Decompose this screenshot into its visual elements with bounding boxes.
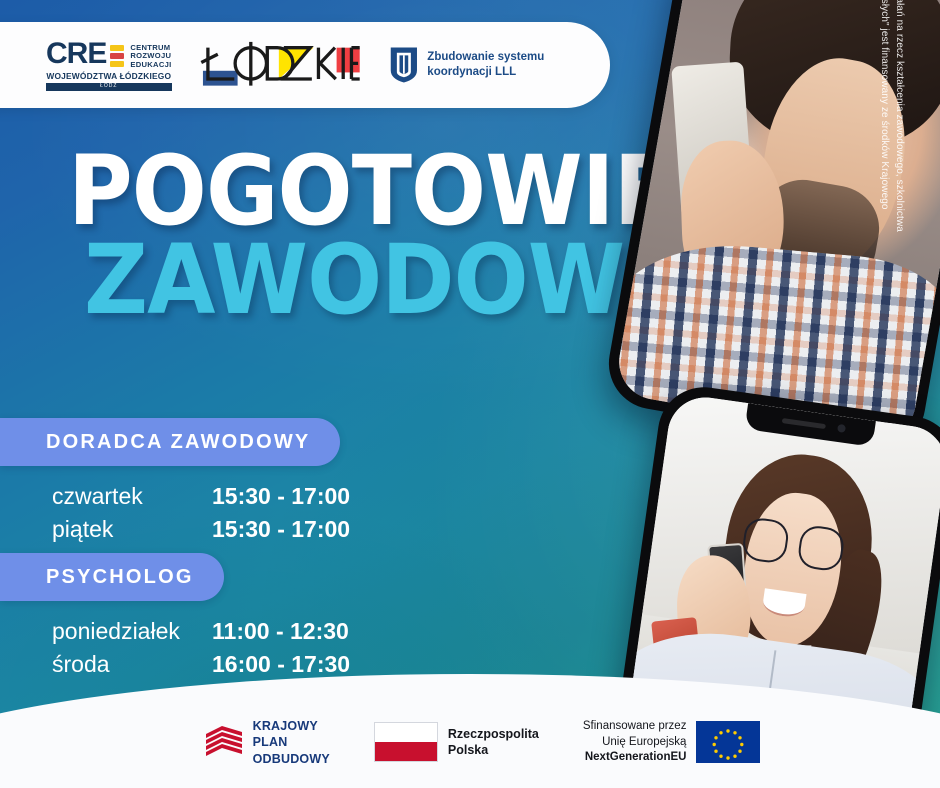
page-title: POGOTOWIE ZAWODOWE <box>68 150 588 321</box>
page-title-line-2: ZAWODOWE <box>84 239 548 322</box>
cre-logo: CRE CENTRUM ROZWOJU EDUKACJI WOJEWÓDZTWA… <box>46 39 172 90</box>
cre-logo-bars-icon <box>110 45 124 67</box>
zbudowanie-logo-text: Zbudowanie systemu koordynacji LLL <box>427 50 610 79</box>
hours-time: 15:30 - 17:00 <box>212 513 350 546</box>
phone-in-circle-icon <box>262 565 287 590</box>
service-label-doradca: DORADCA ZAWODOWY <box>0 418 340 466</box>
cre-logo-top: CRE CENTRUM ROZWOJU EDUKACJI <box>46 39 172 69</box>
lodzkie-logo-mark <box>198 39 363 91</box>
eu-line-3: NextGenerationEU <box>583 750 687 766</box>
poland-flag-icon <box>374 722 438 762</box>
eu-logo: Sfinansowane przez Unię Europejską NextG… <box>583 719 761 766</box>
cre-logo-line-2: ROZWOJU <box>130 52 171 60</box>
eu-logo-text: Sfinansowane przez Unię Europejską NextG… <box>583 719 687 766</box>
phone-in-circle-icon <box>372 430 397 455</box>
kpo-roof-icon <box>204 724 244 760</box>
service-phone-number-psycholog: +48 453 670 292 <box>300 566 457 589</box>
hours-time: 16:00 - 17:30 <box>212 648 350 681</box>
service-phone-number-doradca: +48 453 627 076 <box>410 431 567 454</box>
poland-line-1: Rzeczpospolita <box>448 726 539 743</box>
zbudowanie-logo: Zbudowanie systemu koordynacji LLL <box>389 43 610 87</box>
kpo-line-3: ODBUDOWY <box>253 751 330 767</box>
speaker-icon <box>782 418 826 429</box>
hours-row: piątek 15:30 - 17:00 <box>52 513 350 546</box>
camera-icon <box>837 424 846 433</box>
footer-logos: KRAJOWY PLAN ODBUDOWY Rzeczpospolita Pol… <box>0 718 940 767</box>
book-shield-icon <box>389 43 419 87</box>
kpo-line-2: PLAN <box>253 734 330 750</box>
hours-day: czwartek <box>52 480 212 513</box>
footer-band: KRAJOWY PLAN ODBUDOWY Rzeczpospolita Pol… <box>0 674 940 788</box>
cre-logo-line-3: EDUKACJI <box>130 61 171 69</box>
poland-logo-text: Rzeczpospolita Polska <box>448 726 539 760</box>
page-title-line-1: POGOTOWIE <box>68 150 546 233</box>
service-bar-psycholog: +48 453 670 292 PSYCHOLOG <box>0 553 350 601</box>
service-phone-doradca[interactable]: +48 453 627 076 <box>372 430 567 455</box>
service-block-psycholog: +48 453 670 292 PSYCHOLOG poniedziałek 1… <box>0 553 350 680</box>
service-bar-doradca: +48 453 627 076 DORADCA ZAWODOWY <box>0 418 350 466</box>
eu-flag-icon <box>696 721 760 763</box>
kpo-line-1: KRAJOWY <box>253 718 330 734</box>
hours-day: poniedziałek <box>52 615 212 648</box>
service-label-psycholog: PSYCHOLOG <box>0 553 224 601</box>
poland-line-2: Polska <box>448 742 539 759</box>
cre-logo-subtitle: WOJEWÓDZTWA ŁÓDZKIEGO <box>46 72 171 80</box>
poland-logo: Rzeczpospolita Polska <box>374 722 539 762</box>
service-hours-doradca: czwartek 15:30 - 17:00 piątek 15:30 - 17… <box>0 480 350 545</box>
hours-time: 15:30 - 17:00 <box>212 480 350 513</box>
cre-logo-city: ŁÓDŹ <box>46 83 172 91</box>
eu-line-1: Sfinansowane przez <box>583 720 687 732</box>
hours-time: 11:00 - 12:30 <box>212 615 349 648</box>
hours-row: czwartek 15:30 - 17:00 <box>52 480 350 513</box>
hours-row: środa 16:00 - 17:30 <box>52 648 350 681</box>
cre-logo-line-1: CENTRUM <box>130 44 171 52</box>
cre-logo-letters: CRE <box>46 39 106 69</box>
hours-day: środa <box>52 648 212 681</box>
service-block-doradca: +48 453 627 076 DORADCA ZAWODOWY czwarte… <box>0 418 350 545</box>
cre-logo-wordlines: CENTRUM ROZWOJU EDUKACJI <box>130 44 171 69</box>
hours-row: poniedziałek 11:00 - 12:30 <box>52 615 350 648</box>
header-logo-band: CRE CENTRUM ROZWOJU EDUKACJI WOJEWÓDZTWA… <box>0 22 610 108</box>
service-phone-psycholog[interactable]: +48 453 670 292 <box>262 565 457 590</box>
lodzkie-logo <box>198 39 363 91</box>
funding-note: „Zbudowanie systemu koordynacji i monito… <box>866 0 906 232</box>
poster: CRE CENTRUM ROZWOJU EDUKACJI WOJEWÓDZTWA… <box>0 0 940 788</box>
eu-line-2: Unię Europejską <box>602 736 686 748</box>
service-hours-psycholog: poniedziałek 11:00 - 12:30 środa 16:00 -… <box>0 615 350 680</box>
kpo-logo-text: KRAJOWY PLAN ODBUDOWY <box>253 718 330 767</box>
hours-day: piątek <box>52 513 212 546</box>
kpo-logo: KRAJOWY PLAN ODBUDOWY <box>204 718 330 767</box>
